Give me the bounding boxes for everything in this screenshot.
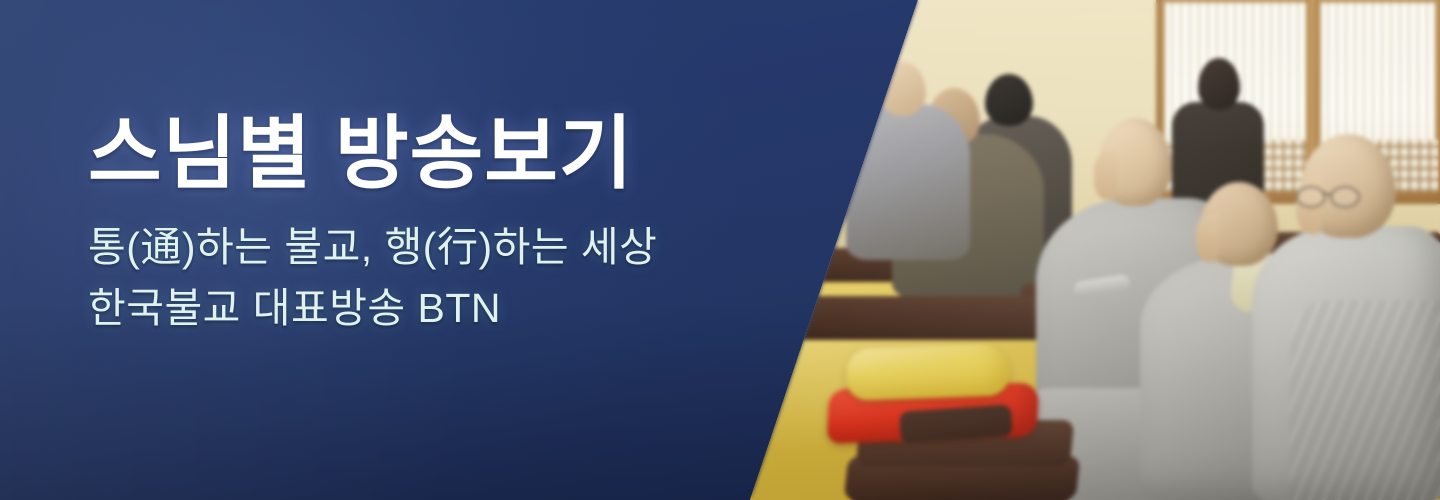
- eyeglasses-icon: [1296, 186, 1364, 204]
- promo-banner[interactable]: 스님별 방송보기 통(通)하는 불교, 행(行)하는 세상 한국불교 대표방송 …: [0, 0, 1440, 500]
- banner-text-block: 스님별 방송보기 통(通)하는 불교, 행(行)하는 세상 한국불교 대표방송 …: [88, 112, 788, 339]
- cushion-yellow: [845, 343, 1011, 401]
- subtitle-line-1: 통(通)하는 불교, 행(行)하는 세상: [88, 217, 788, 278]
- visitor-head: [1198, 58, 1240, 110]
- monk-face-profile: [1094, 150, 1118, 200]
- meditation-mat-mid: [783, 296, 1048, 340]
- lens-left: [1296, 186, 1326, 208]
- robe-folds: [1290, 300, 1440, 500]
- lens-right: [1330, 186, 1360, 208]
- monk-face-profile: [1196, 214, 1220, 262]
- subtitle-line-2: 한국불교 대표방송 BTN: [88, 278, 788, 339]
- monk-head: [985, 74, 1033, 126]
- page-title: 스님별 방송보기: [88, 112, 788, 195]
